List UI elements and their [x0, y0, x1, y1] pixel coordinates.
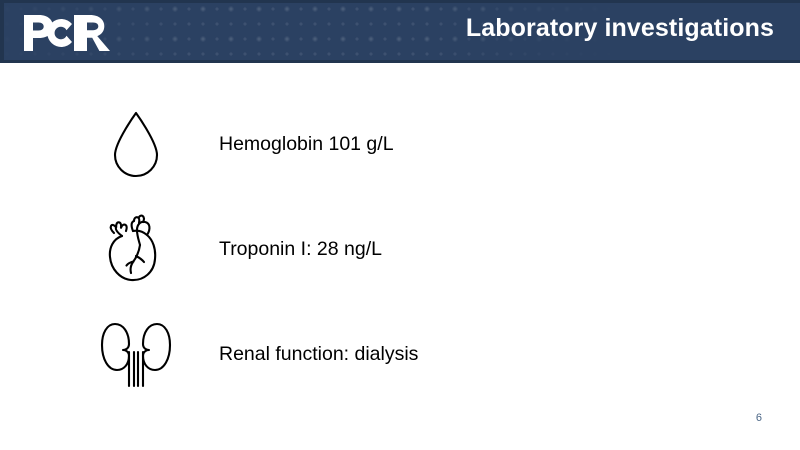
kidneys-icon [96, 315, 176, 395]
page-number: 6 [756, 412, 762, 424]
pcr-logo[interactable] [22, 13, 112, 53]
list-item-label: Hemoglobin 101 g/L [219, 135, 394, 155]
slide-content: Hemoglobin 101 g/L [0, 63, 800, 450]
blood-drop-icon [96, 105, 176, 185]
heart-anatomical-icon [96, 210, 176, 290]
list-item: Hemoglobin 101 g/L [0, 100, 800, 190]
list-item-label: Renal function: dialysis [219, 345, 418, 365]
list-item: Renal function: dialysis [0, 310, 800, 400]
header-top-border [0, 0, 800, 3]
header-left-border [0, 0, 4, 63]
slide-header: Laboratory investigations [0, 0, 800, 63]
list-item-label: Troponin I: 28 ng/L [219, 240, 382, 260]
list-item: Troponin I: 28 ng/L [0, 205, 800, 295]
page-title: Laboratory investigations [466, 14, 774, 43]
